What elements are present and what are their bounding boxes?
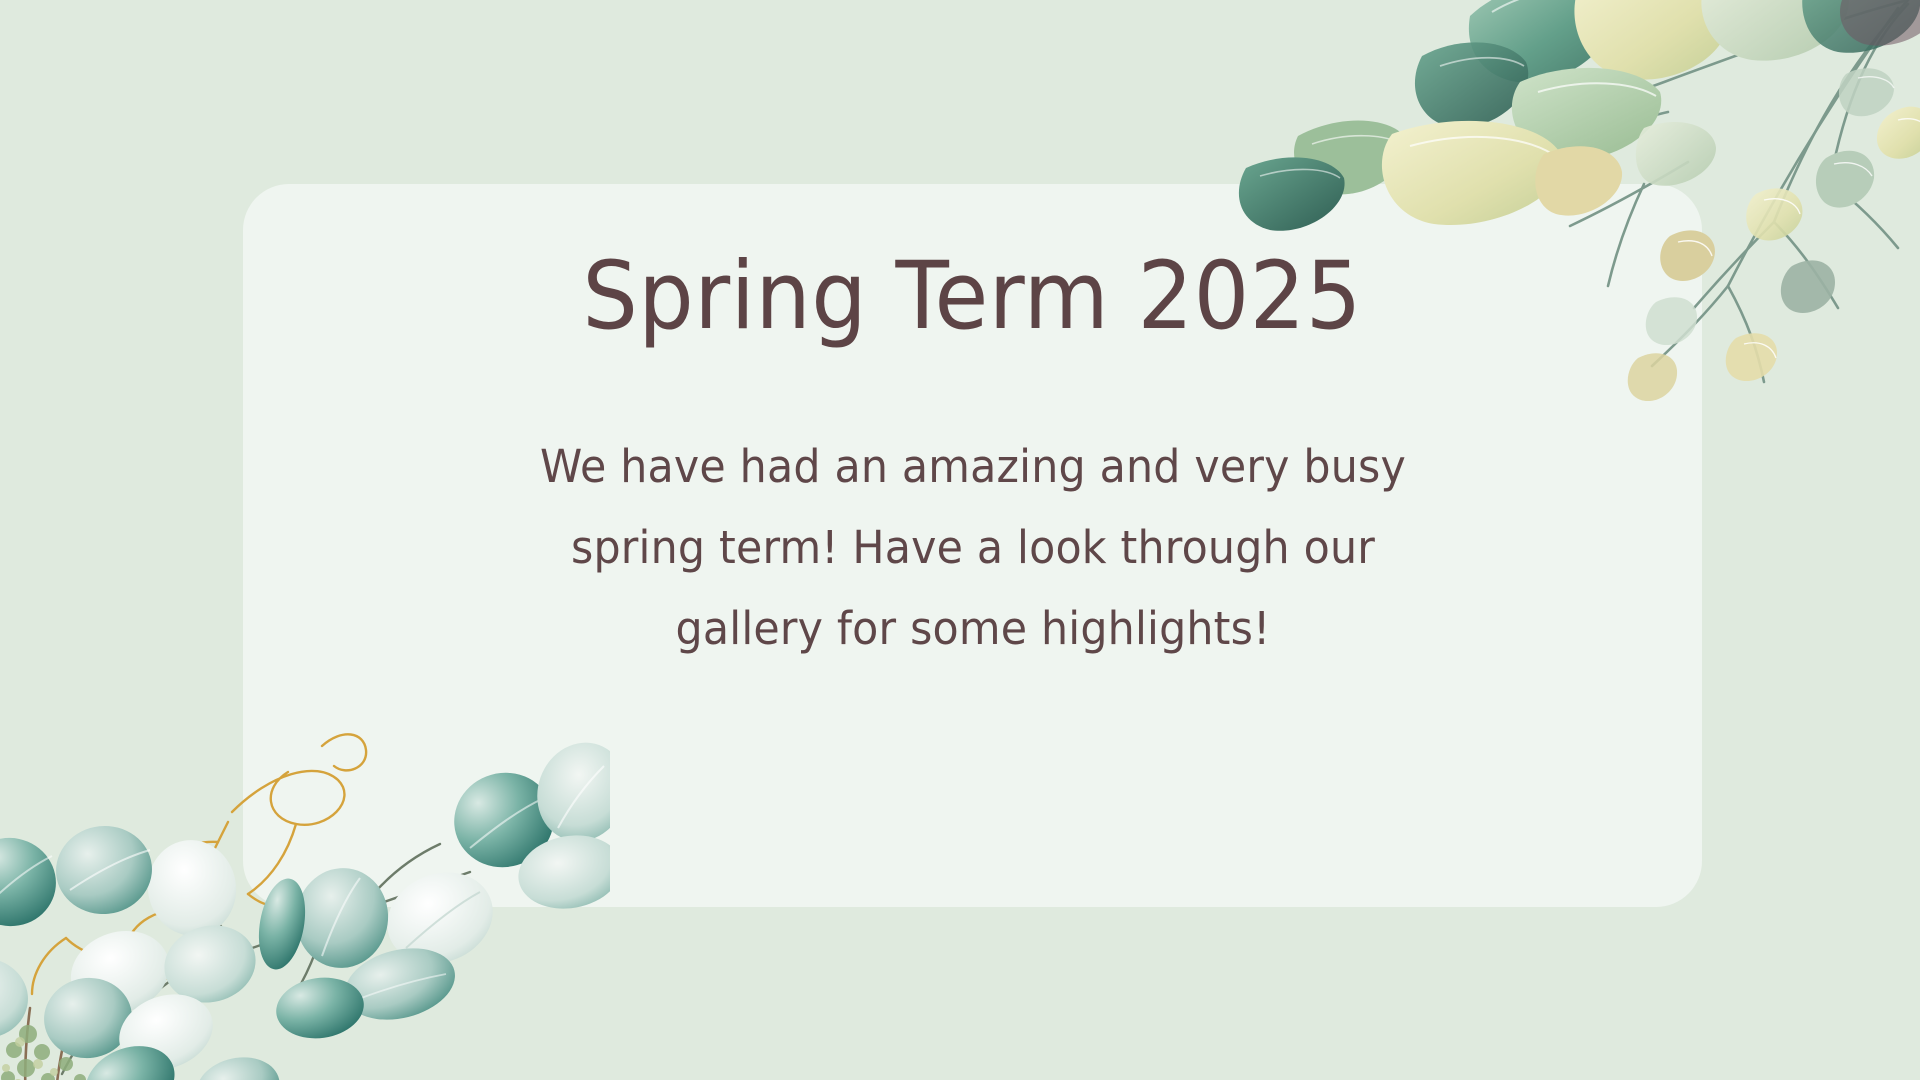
body-line-1: We have had an amazing and very busy xyxy=(498,426,1448,507)
body-line-2: spring term! Have a look through our xyxy=(498,507,1448,588)
card-content: Spring Term 2025 We have had an amazing … xyxy=(243,184,1702,907)
content-card: Spring Term 2025 We have had an amazing … xyxy=(243,184,1702,907)
page-title: Spring Term 2025 xyxy=(583,246,1362,348)
body-copy: We have had an amazing and very busy spr… xyxy=(498,426,1448,669)
slide-canvas: Spring Term 2025 We have had an amazing … xyxy=(0,0,1920,1080)
body-line-3: gallery for some highlights! xyxy=(498,588,1448,669)
